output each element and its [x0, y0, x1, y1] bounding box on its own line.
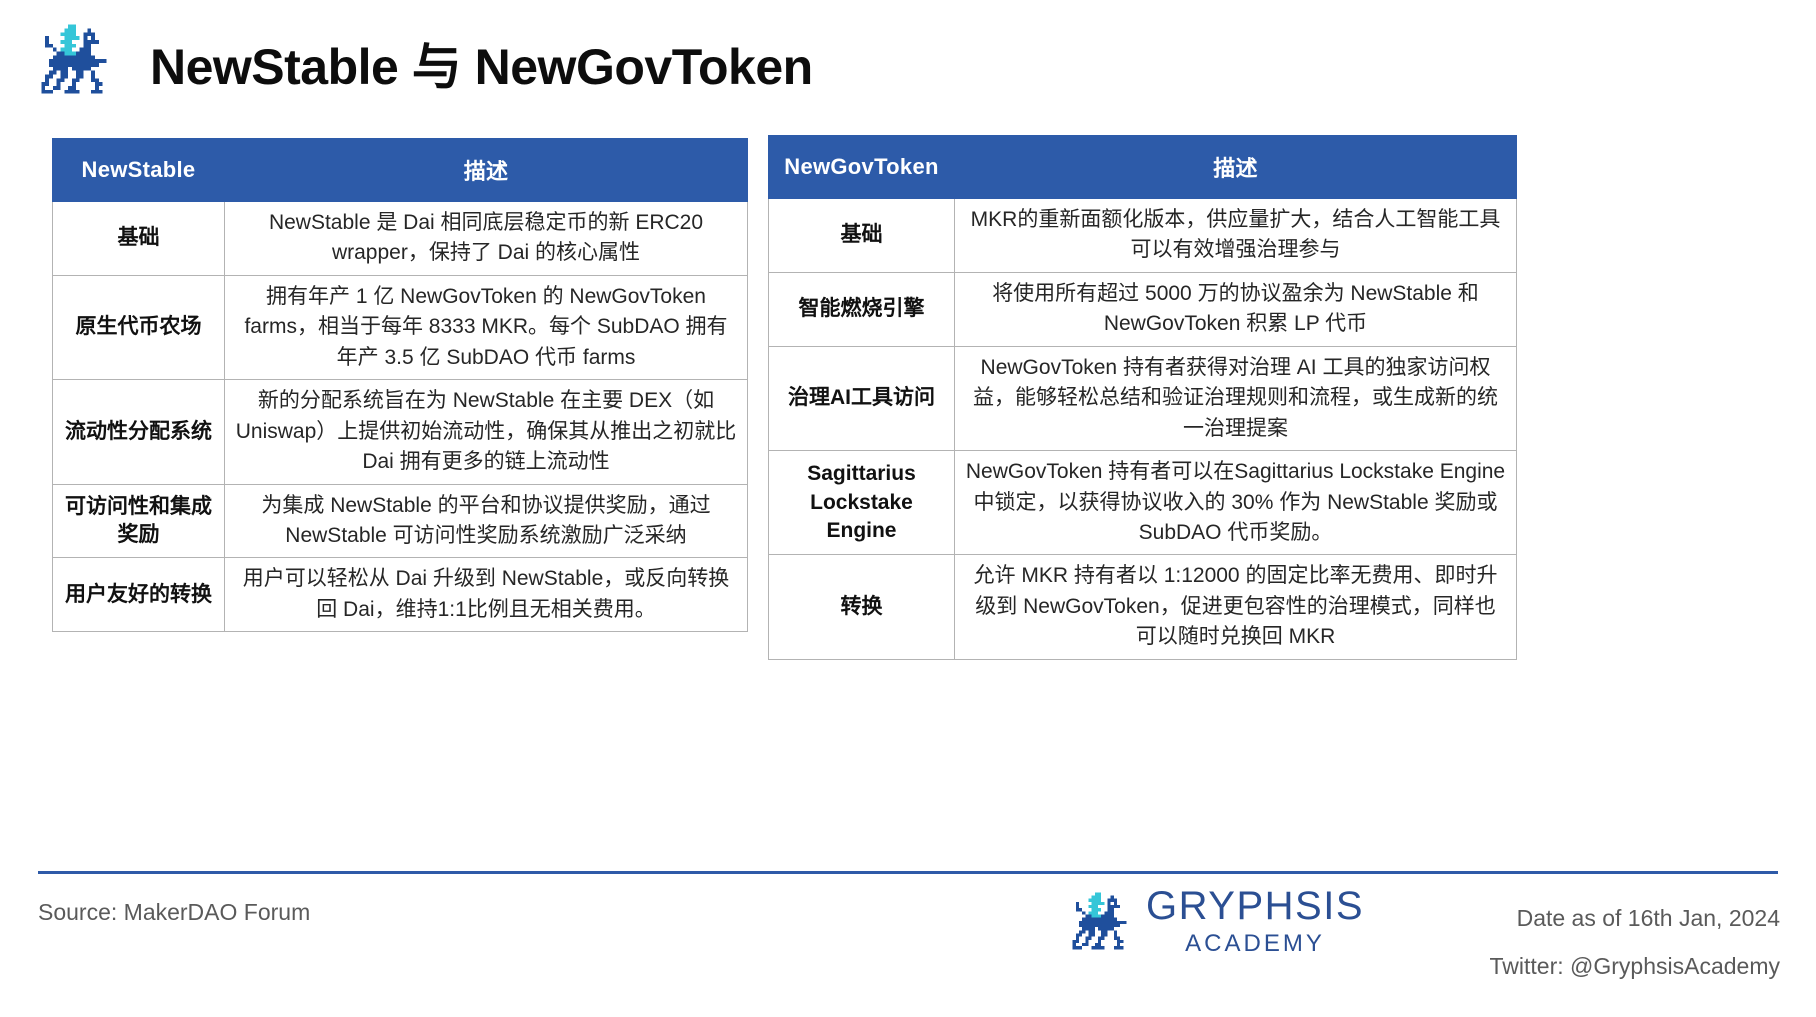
brand-name: GRYPHSIS: [1146, 886, 1364, 926]
table-row: 流动性分配系统 新的分配系统旨在为 NewStable 在主要 DEX（如 Un…: [53, 380, 748, 484]
row-desc: NewGovToken 持有者可以在Sagittarius Lockstake …: [955, 451, 1517, 555]
table-row: 基础 NewStable 是 Dai 相同底层稳定币的新 ERC20 wrapp…: [53, 202, 748, 276]
gryphsis-griffin-icon: [26, 17, 118, 109]
row-desc: 为集成 NewStable 的平台和协议提供奖励，通过 NewStable 可访…: [225, 484, 748, 558]
source-label: Source: MakerDAO Forum: [38, 899, 310, 926]
row-key: 用户友好的转换: [53, 558, 225, 632]
table-row: 转换 允许 MKR 持有者以 1:12000 的固定比率无费用、即时升级到 Ne…: [769, 555, 1517, 659]
table-row: Sagittarius Lockstake Engine NewGovToken…: [769, 451, 1517, 555]
row-key: 基础: [769, 199, 955, 273]
row-key: 可访问性和集成奖励: [53, 484, 225, 558]
row-key: 流动性分配系统: [53, 380, 225, 484]
slide-footer: Source: MakerDAO Forum: [0, 874, 1816, 1017]
tables-area: NewStable 描述 基础 NewStable 是 Dai 相同底层稳定币的…: [0, 128, 1816, 748]
column-header-desc: 描述: [225, 139, 748, 202]
column-header-desc: 描述: [955, 136, 1517, 199]
table-row: 原生代币农场 拥有年产 1 亿 NewGovToken 的 NewGovToke…: [53, 275, 748, 379]
row-key: 智能燃烧引擎: [769, 272, 955, 346]
meta-block: Date as of 16th Jan, 2024 Twitter: @Gryp…: [1490, 894, 1780, 991]
row-desc: 新的分配系统旨在为 NewStable 在主要 DEX（如 Uniswap）上提…: [225, 380, 748, 484]
row-desc: NewStable 是 Dai 相同底层稳定币的新 ERC20 wrapper，…: [225, 202, 748, 276]
row-desc: 用户可以轻松从 Dai 升级到 NewStable，或反向转换回 Dai，维持1…: [225, 558, 748, 632]
brand-wordmark: GRYPHSIS ACADEMY: [1146, 886, 1364, 962]
row-desc: 允许 MKR 持有者以 1:12000 的固定比率无费用、即时升级到 NewGo…: [955, 555, 1517, 659]
page-title: NewStable 与 NewGovToken: [150, 27, 813, 99]
row-key: Sagittarius Lockstake Engine: [769, 451, 955, 555]
gryphsis-griffin-icon: [1060, 886, 1136, 962]
brand-block: GRYPHSIS ACADEMY: [1060, 886, 1364, 962]
table-header-row: NewStable 描述: [53, 139, 748, 202]
column-header-key: NewStable: [53, 139, 225, 202]
slide-header: NewStable 与 NewGovToken: [0, 0, 1816, 126]
twitter-handle: Twitter: @GryphsisAcademy: [1490, 942, 1780, 990]
brand-subtitle: ACADEMY: [1185, 926, 1325, 962]
table-row: 用户友好的转换 用户可以轻松从 Dai 升级到 NewStable，或反向转换回…: [53, 558, 748, 632]
date-label: Date as of 16th Jan, 2024: [1490, 894, 1780, 942]
table-header-row: NewGovToken 描述: [769, 136, 1517, 199]
row-key: 转换: [769, 555, 955, 659]
table-row: 可访问性和集成奖励 为集成 NewStable 的平台和协议提供奖励，通过 Ne…: [53, 484, 748, 558]
row-key: 基础: [53, 202, 225, 276]
row-key: 治理AI工具访问: [769, 346, 955, 450]
row-desc: NewGovToken 持有者获得对治理 AI 工具的独家访问权益，能够轻松总结…: [955, 346, 1517, 450]
row-desc: 将使用所有超过 5000 万的协议盈余为 NewStable 和 NewGovT…: [955, 272, 1517, 346]
newgovtoken-table: NewGovToken 描述 基础 MKR的重新面额化版本，供应量扩大，结合人工…: [768, 135, 1517, 660]
row-desc: 拥有年产 1 亿 NewGovToken 的 NewGovToken farms…: [225, 275, 748, 379]
table-row: 治理AI工具访问 NewGovToken 持有者获得对治理 AI 工具的独家访问…: [769, 346, 1517, 450]
column-header-key: NewGovToken: [769, 136, 955, 199]
table-row: 智能燃烧引擎 将使用所有超过 5000 万的协议盈余为 NewStable 和 …: [769, 272, 1517, 346]
row-key: 原生代币农场: [53, 275, 225, 379]
row-desc: MKR的重新面额化版本，供应量扩大，结合人工智能工具可以有效增强治理参与: [955, 199, 1517, 273]
table-row: 基础 MKR的重新面额化版本，供应量扩大，结合人工智能工具可以有效增强治理参与: [769, 199, 1517, 273]
newstable-table: NewStable 描述 基础 NewStable 是 Dai 相同底层稳定币的…: [52, 138, 748, 632]
